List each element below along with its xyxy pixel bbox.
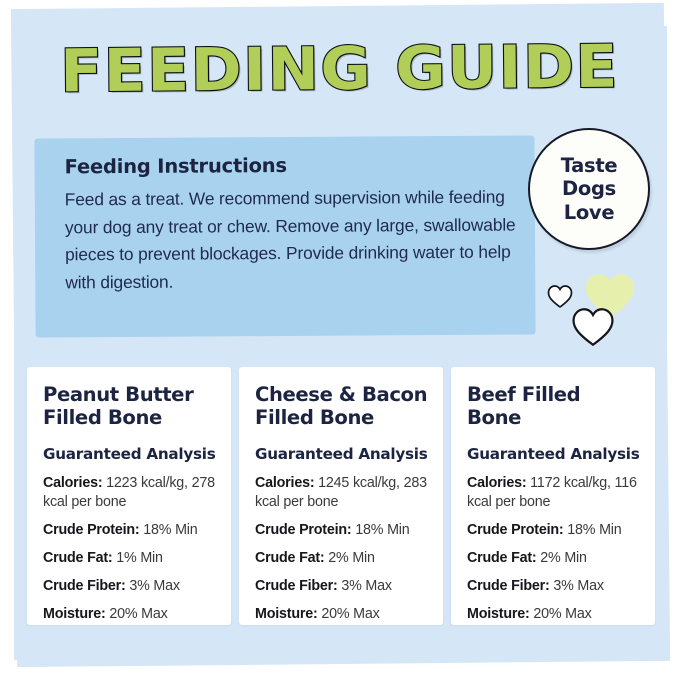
analysis-value: 1% Min (116, 550, 162, 566)
analysis-value: 2% Min (328, 550, 374, 566)
analysis-row-crude-fiber: Crude Fiber: 3% Max (467, 577, 640, 596)
analysis-row-moisture: Moisture: 20% Max (467, 605, 640, 624)
analysis-label: Calories: (43, 475, 102, 491)
product-card-title: Beef Filled Bone (467, 384, 640, 429)
analysis-value: 3% Max (553, 578, 603, 594)
analysis-value: 20% Max (533, 606, 591, 622)
analysis-value: 18% Min (567, 522, 621, 538)
analysis-label: Crude Fiber: (255, 578, 338, 594)
product-card-beef: Beef Filled Bone Guaranteed Analysis Cal… (451, 367, 655, 625)
analysis-row-calories: Calories: 1223 kcal/kg, 278 kcal per bon… (43, 474, 216, 512)
guaranteed-analysis-heading: Guaranteed Analysis (255, 445, 428, 463)
analysis-label: Crude Protein: (43, 522, 140, 538)
analysis-row-moisture: Moisture: 20% Max (255, 605, 428, 624)
feeding-instructions-body: Feed as a treat. We recommend supervisio… (65, 184, 518, 297)
analysis-row-crude-protein: Crude Protein: 18% Min (43, 521, 216, 540)
badge-line-1: Taste (561, 154, 618, 178)
analysis-row-calories: Calories: 1245 kcal/kg, 283 kcal per bon… (255, 474, 428, 512)
analysis-row-crude-protein: Crude Protein: 18% Min (467, 521, 640, 540)
analysis-value: 18% Min (143, 522, 197, 538)
analysis-label: Crude Fat: (255, 550, 325, 566)
product-card-peanut-butter: Peanut Butter Filled Bone Guaranteed Ana… (27, 367, 231, 625)
badge-label: Taste Dogs Love (561, 154, 618, 225)
badge-line-2: Dogs (561, 177, 618, 201)
product-card-title: Cheese & Bacon Filled Bone (255, 384, 428, 429)
heart-filled-white-icon (571, 306, 615, 353)
analysis-row-calories: Calories: 1172 kcal/kg, 116 kcal per bon… (467, 474, 640, 512)
taste-dogs-love-badge: Taste Dogs Love (528, 128, 650, 250)
analysis-row-crude-fat: Crude Fat: 2% Min (255, 549, 428, 568)
analysis-value: 18% Min (355, 522, 409, 538)
guaranteed-analysis-heading: Guaranteed Analysis (467, 445, 640, 463)
product-card-title: Peanut Butter Filled Bone (43, 384, 216, 429)
analysis-label: Crude Fat: (467, 550, 537, 566)
feeding-instructions-panel: Feeding Instructions Feed as a treat. We… (34, 135, 535, 337)
guaranteed-analysis-heading: Guaranteed Analysis (43, 445, 216, 463)
analysis-row-crude-fat: Crude Fat: 2% Min (467, 549, 640, 568)
analysis-label: Crude Fiber: (43, 578, 126, 594)
feeding-guide-page: FEEDING GUIDE Feeding Instructions Feed … (0, 0, 679, 673)
analysis-value: 2% Min (540, 550, 586, 566)
analysis-label: Calories: (255, 475, 314, 491)
analysis-label: Crude Protein: (255, 522, 352, 538)
badge-line-3: Love (561, 201, 618, 225)
product-cards-row: Peanut Butter Filled Bone Guaranteed Ana… (27, 367, 655, 625)
analysis-value: 3% Max (341, 578, 391, 594)
analysis-value: 3% Max (129, 578, 179, 594)
analysis-label: Crude Fat: (43, 550, 113, 566)
page-title-container: FEEDING GUIDE (0, 33, 679, 105)
analysis-row-crude-protein: Crude Protein: 18% Min (255, 521, 428, 540)
analysis-label: Moisture: (43, 606, 106, 622)
analysis-label: Calories: (467, 475, 526, 491)
analysis-label: Moisture: (467, 606, 530, 622)
product-card-cheese-bacon: Cheese & Bacon Filled Bone Guaranteed An… (239, 367, 443, 625)
analysis-label: Moisture: (255, 606, 318, 622)
analysis-row-moisture: Moisture: 20% Max (43, 605, 216, 624)
analysis-value: 20% Max (321, 606, 379, 622)
analysis-label: Crude Protein: (467, 522, 564, 538)
analysis-value: 20% Max (109, 606, 167, 622)
analysis-row-crude-fat: Crude Fat: 1% Min (43, 549, 216, 568)
feeding-instructions-heading: Feeding Instructions (65, 154, 287, 178)
analysis-row-crude-fiber: Crude Fiber: 3% Max (255, 577, 428, 596)
analysis-label: Crude Fiber: (467, 578, 550, 594)
page-title: FEEDING GUIDE (60, 34, 619, 105)
heart-outline-icon (547, 284, 573, 314)
analysis-row-crude-fiber: Crude Fiber: 3% Max (43, 577, 216, 596)
